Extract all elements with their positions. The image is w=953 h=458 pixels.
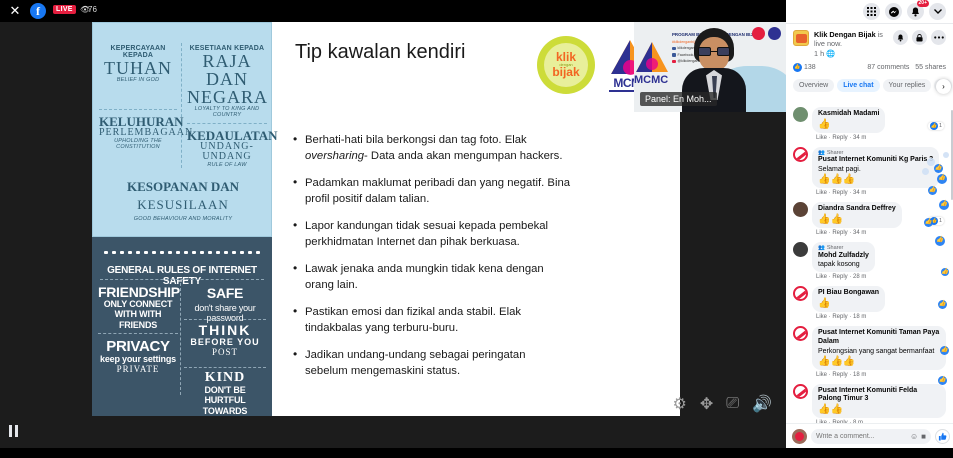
poster-rule [99,109,177,110]
bell-icon[interactable] [893,30,908,45]
viewer-count: 👁76 [80,5,97,14]
comment-actions[interactable]: Like · Reply · 34 m [816,135,946,141]
live-post-header: Klik Dengan Bijak is live now. 1 h 🌐 [786,24,953,76]
facebook-top-nav: 20+ [786,0,953,24]
rukun-negara-poster: KEPERCAYAAN KEPADA TUHAN BELIEF IN GOD K… [92,22,272,448]
comment-item[interactable]: 👥SharerPusat Internet Komuniti Kg Paris … [793,147,946,196]
facebook-sidebar: 20+ Klik Dengan Bijak is live now. 1 h 🌐 [786,0,953,448]
comment-reaction-count[interactable]: 👍1 [928,122,944,130]
poster-block-kedaulatan: KEDAULATAN UNDANG-UNDANG RULE OF LAW [187,129,267,168]
avatar[interactable] [793,107,808,122]
tab-your-replies[interactable]: Your replies [883,79,932,92]
comment-item[interactable]: Kasmidah Madami👍Like · Reply · 34 m👍1 [793,107,946,141]
klik-dengan-bijak-logo: klik dengan bijak [537,36,595,94]
comment-emoji: 👍 [818,298,879,309]
comment-actions[interactable]: Like · Reply · 18 m [816,314,946,320]
thumbs-up-icon: 👍 [930,217,938,225]
reaction-summary[interactable]: 👍 138 [793,63,816,72]
avatar [792,429,807,444]
presenter-name-label: Panel: En Moh... [640,92,717,106]
pause-icon[interactable] [8,425,19,437]
gear-icon[interactable]: ⚙ [673,394,687,414]
slide-bullet: Lawak jenaka anda mungkin tidak kena den… [292,261,570,293]
page-avatar[interactable] [793,30,809,46]
facebook-logo: f [30,3,46,19]
post-timestamp: 1 h [814,49,824,58]
comment-emoji: 👍👍 [818,214,896,225]
comment-body: PI Biau Bongawan👍Like · Reply · 18 m [812,286,946,320]
comment-composer[interactable]: ☺ ■ [786,423,953,448]
gif-icon[interactable]: ■ [921,432,926,441]
poster-rule [184,319,266,320]
poster-dotted-rule [102,251,262,254]
thumbs-up-icon: 👍 [930,122,938,130]
window-bottom-bar [0,448,953,458]
emoji-icon[interactable]: ☺ [910,432,918,441]
avatar[interactable] [793,286,808,301]
comment-author[interactable]: Kasmidah Madami [818,110,879,119]
comment-item[interactable]: Pusat Internet Komuniti Felda Palong Tim… [793,384,946,423]
comment-body: Kasmidah Madami👍Like · Reply · 34 m [812,107,946,141]
comment-bubble: Pusat Internet Komuniti Taman Paya Dalam… [812,326,946,370]
notifications-icon[interactable]: 20+ [907,3,924,20]
poster-block-privacy: PRIVACY keep your settings PRIVATE [98,339,178,374]
comment-item[interactable]: Pusat Internet Komuniti Taman Paya Dalam… [793,326,946,378]
poster-rule [100,279,264,280]
poster-block-keluhuran: KELUHURAN PERLEMBAGAAN UPHOLDING THE CON… [99,115,177,150]
post-stats: 👍 138 87 comments 55 shares [793,63,946,72]
comment-actions[interactable]: Like · Reply · 34 m [816,230,946,236]
comment-body: Pusat Internet Komuniti Felda Palong Tim… [812,384,946,423]
slide-bullet: Lapor kandungan tidak sesuai kepada pemb… [292,218,570,250]
more-options-icon[interactable] [931,30,946,45]
comment-emoji: 👍 [818,119,879,130]
avatar[interactable] [793,242,808,257]
comment-text: Perkongsian yang sangat bermanfaat [818,347,940,356]
expand-icon[interactable]: ✥ [700,394,713,414]
comment-bubble: PI Biau Bongawan👍 [812,286,885,312]
comment-actions[interactable]: Like · Reply · 18 m [816,372,946,378]
poster-block-raja: KESETIAAN KEPADA RAJA DAN NEGARA LOYALTY… [187,45,267,118]
comment-text: tapak kosong [818,260,869,269]
comment-text: Selamat pagi. [818,165,933,174]
avatar[interactable] [793,202,808,217]
video-stage: KEPERCAYAAN KEPADA TUHAN BELIEF IN GOD K… [0,22,786,426]
playback-bar[interactable] [0,416,786,448]
video-controls[interactable]: ⚙ ✥ ⎚ 🔊 [673,394,772,414]
comment-item[interactable]: 👥SharerMohd Zulfadzlytapak kosongLike · … [793,242,946,280]
post-meta: Klik Dengan Bijak is live now. 1 h 🌐 [814,30,888,58]
mcmc-logo: MCMC [634,74,668,86]
presenter-video-tile[interactable]: MCMC PROGRAM BICARA KLIK DENGAN BIJAK #k… [634,22,786,112]
comment-author[interactable]: Pusat Internet Komuniti Taman Paya Dalam [818,329,940,347]
comment-item[interactable]: PI Biau Bongawan👍Like · Reply · 18 m [793,286,946,320]
video-top-bar: ✕ f LIVE 👁76 [0,0,786,22]
poster-rule [187,123,267,124]
poster-rule [184,367,266,368]
poster-divider [181,43,182,168]
comments-count[interactable]: 87 comments [867,64,909,71]
comment-author[interactable]: Pusat Internet Komuniti Felda Palong Tim… [818,387,940,405]
chevron-right-icon[interactable]: › [936,79,951,94]
comments-list[interactable]: Kasmidah Madami👍Like · Reply · 34 m👍1👥Sh… [786,105,953,423]
tab-live-chat[interactable]: Live chat [837,79,879,92]
poster-block-think: THINK BEFORE YOU POST [184,323,266,357]
avatar[interactable] [793,384,808,399]
thumbs-up-icon: 👍 [793,63,802,72]
presentation-slide: KEPERCAYAAN KEPADA TUHAN BELIEF IN GOD K… [92,22,680,448]
picture-in-picture-icon[interactable]: ⎚ [726,395,739,413]
poster-top-panel: KEPERCAYAAN KEPADA TUHAN BELIEF IN GOD K… [92,22,272,237]
messenger-icon[interactable] [885,3,902,20]
menu-grid-icon[interactable] [863,3,880,20]
globe-icon: 🌐 [826,49,835,58]
comment-item[interactable]: Diandra Sandra Deffrey👍👍Like · Reply · 3… [793,202,946,236]
volume-icon[interactable]: 🔊 [752,394,772,414]
account-chevron-icon[interactable] [929,3,946,20]
avatar[interactable] [793,326,808,341]
comment-actions[interactable]: Like · Reply · 34 m [816,190,946,196]
eye-icon: 👁 [80,5,88,14]
poster-rule [98,333,178,334]
comment-body: 👥SharerPusat Internet Komuniti Kg Paris … [812,147,946,196]
slide-bullet: Padamkan maklumat peribadi dan yang nega… [292,175,570,207]
post-action-buttons[interactable] [893,30,946,45]
panel-tabs[interactable]: Overview Live chat Your replies M › [786,76,953,97]
shares-count[interactable]: 55 shares [915,64,946,71]
slide-title: Tip kawalan kendiri [295,40,495,64]
comment-actions[interactable]: Like · Reply · 28 m [816,274,946,280]
comment-body: Pusat Internet Komuniti Taman Paya Dalam… [812,326,946,378]
comment-author[interactable]: PI Biau Bongawan [818,289,879,298]
slide-bullet: Pastikan emosi dan fizikal anda stabil. … [292,304,570,336]
comment-bubble: 👥SharerPusat Internet Komuniti Kg Paris … [812,147,939,188]
comment-author[interactable]: Diandra Sandra Deffrey [818,205,896,214]
reaction-count: 138 [804,64,816,71]
comment-bubble: 👥SharerMohd Zulfadzlytapak kosong [812,242,875,272]
sharer-badge: 👥Sharer [818,150,933,157]
sharer-icon: 👥 [818,245,825,252]
poster-block-safe: SAFE don't share your password [184,285,266,324]
thumbs-up-icon[interactable] [935,429,950,444]
comment-emoji: 👍👍👍 [818,356,940,367]
comment-author[interactable]: Mohd Zulfadzly [818,252,869,261]
sharer-badge: 👥Sharer [818,245,869,252]
sharer-icon: 👥 [818,150,825,157]
poster-block-friendship: FRIENDSHIP ONLY CONNECT WITH WITH FRIEND… [98,285,178,330]
comment-reaction-count[interactable]: 👍1 [928,217,944,225]
glasses-icon [698,47,730,56]
comment-bubble: Diandra Sandra Deffrey👍👍 [812,202,902,228]
tab-overview[interactable]: Overview [793,79,834,92]
comment-emoji: 👍👍 [818,404,940,415]
notification-badge: 20+ [917,0,929,7]
live-stream-page: ✕ f LIVE 👁76 KEPERCAYAAN KEPADA TUHAN BE… [0,0,953,458]
comment-input[interactable] [816,433,907,440]
live-badge: LIVE [53,5,76,14]
comment-body: Diandra Sandra Deffrey👍👍Like · Reply · 3… [812,202,946,236]
poster-block-kesopanan: KESOPANAN DAN KESUSILAAN GOOD BEHAVIOUR … [99,178,267,222]
slide-bullet: Jadikan undang-undang sebagai peringatan… [292,347,570,379]
comment-bubble: Kasmidah Madami👍 [812,107,885,133]
slide-bullet: Berhati-hati bila berkongsi dan tag foto… [292,132,570,164]
poster-divider [180,283,181,395]
comment-author[interactable]: Pusat Internet Komuniti Kg Paris 3 [818,156,933,165]
poster-block-tuhan: KEPERCAYAAN KEPADA TUHAN BELIEF IN GOD [99,45,177,83]
video-player[interactable]: ✕ f LIVE 👁76 KEPERCAYAAN KEPADA TUHAN BE… [0,0,786,448]
comment-bubble: Pusat Internet Komuniti Felda Palong Tim… [812,384,946,419]
slide-bullet-list: Berhati-hati bila berkongsi dan tag foto… [292,132,570,390]
close-icon[interactable]: ✕ [8,4,22,18]
avatar[interactable] [793,147,808,162]
comment-emoji: 👍👍👍 [818,174,933,185]
lock-icon[interactable] [912,30,927,45]
comment-body: 👥SharerMohd Zulfadzlytapak kosongLike · … [812,242,946,280]
page-name[interactable]: Klik Dengan Bijak [814,30,876,39]
comment-input-wrapper[interactable]: ☺ ■ [811,429,931,444]
partner-seals [752,27,781,40]
